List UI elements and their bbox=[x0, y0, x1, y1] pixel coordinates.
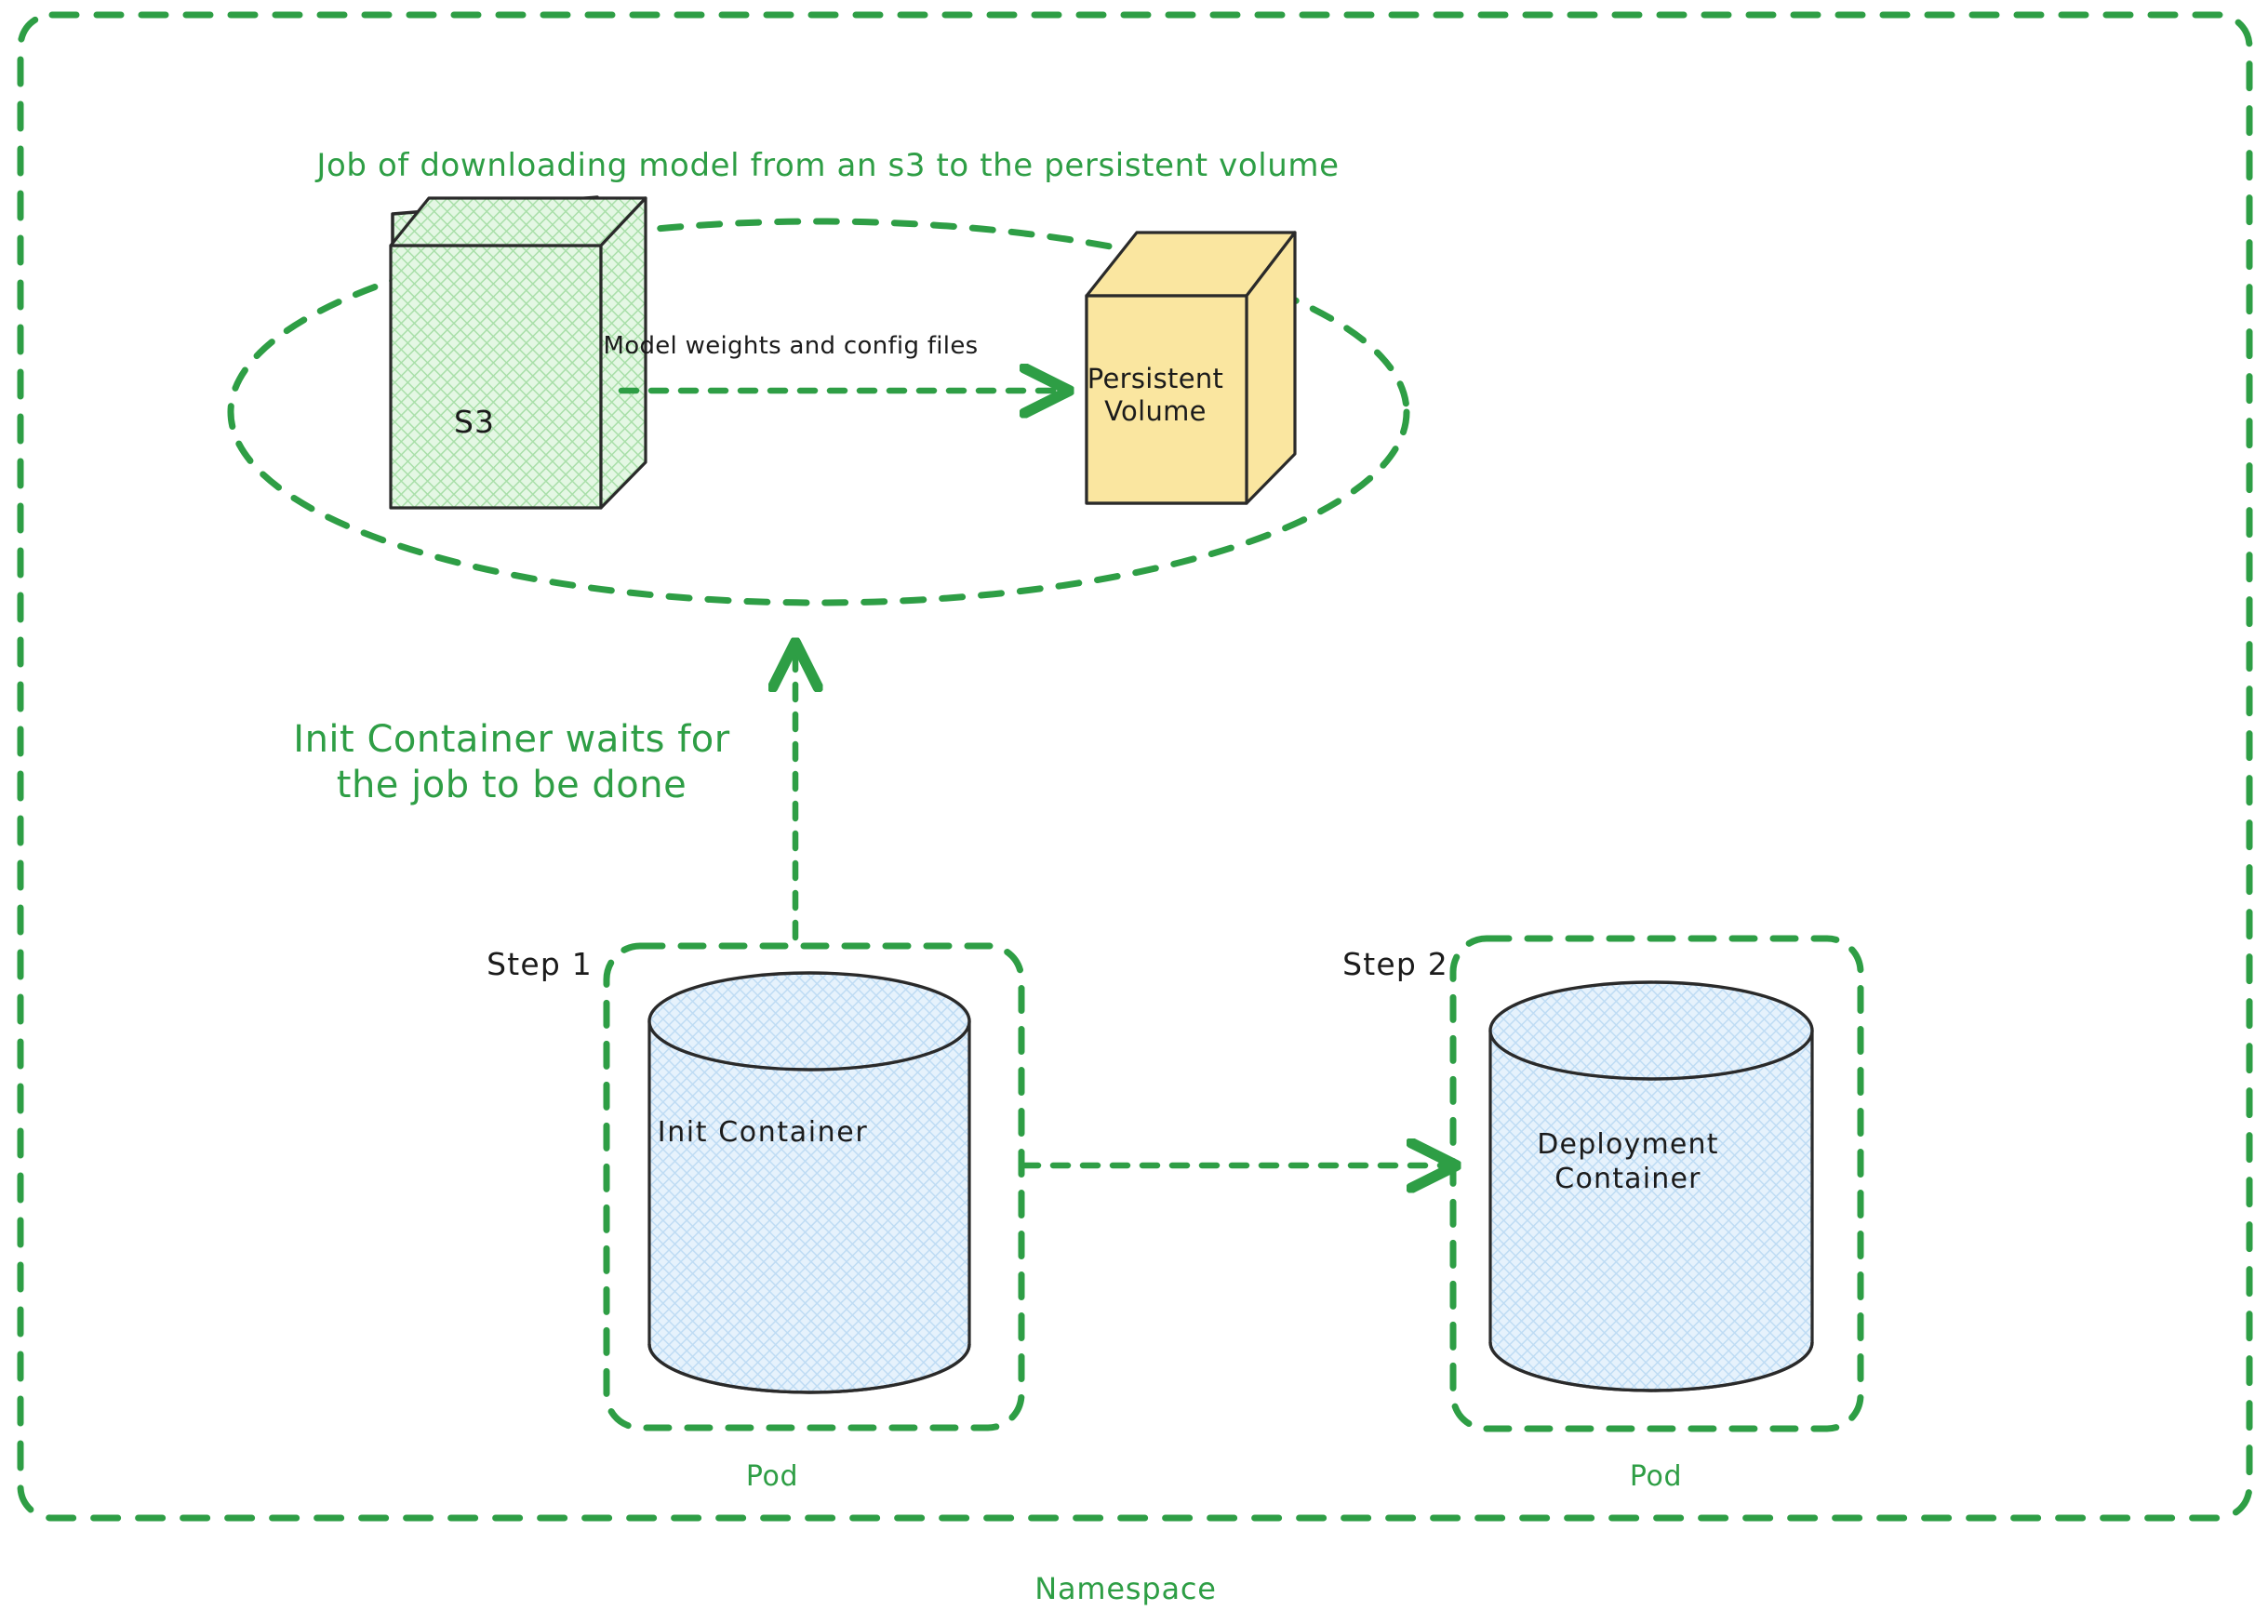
deployment-container-cylinder bbox=[1490, 982, 1812, 1391]
diagram-svg bbox=[0, 0, 2268, 1624]
persistent-volume-cube bbox=[1087, 233, 1295, 503]
s3-cube bbox=[391, 197, 646, 508]
init-container-cylinder bbox=[649, 973, 969, 1392]
diagram-canvas: Job of downloading model from an s3 to t… bbox=[0, 0, 2268, 1624]
